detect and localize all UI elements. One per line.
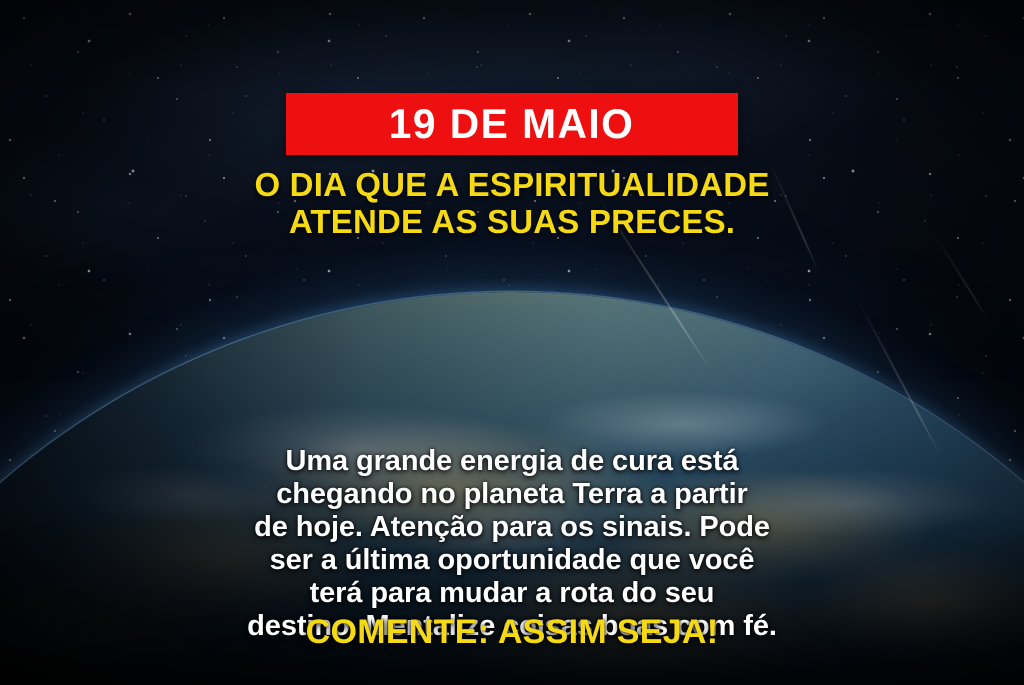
body-copy-line-5: terá para mudar a rota do seu xyxy=(58,577,966,610)
body-copy-line-4: ser a última oportunidade que você xyxy=(58,544,966,577)
poster-content: 19 DE MAIO O DIA QUE A ESPIRITUALIDADE A… xyxy=(0,0,1024,685)
date-banner-label: 19 DE MAIO xyxy=(389,103,634,145)
headline-line-1: O DIA QUE A ESPIRITUALIDADE xyxy=(0,166,1024,203)
date-banner: 19 DE MAIO xyxy=(286,93,738,155)
poster-canvas: 19 DE MAIO O DIA QUE A ESPIRITUALIDADE A… xyxy=(0,0,1024,685)
body-copy-line-1: Uma grande energia de cura está xyxy=(58,445,966,478)
call-to-action: COMENTE: ASSIM SEJA! xyxy=(0,612,1024,652)
headline-line-2: ATENDE AS SUAS PRECES. xyxy=(0,203,1024,240)
call-to-action-label: COMENTE: ASSIM SEJA! xyxy=(306,613,719,651)
body-copy-line-3: de hoje. Atenção para os sinais. Pode xyxy=(58,511,966,544)
body-copy-line-2: chegando no planeta Terra a partir xyxy=(58,478,966,511)
headline: O DIA QUE A ESPIRITUALIDADE ATENDE AS SU… xyxy=(0,166,1024,240)
